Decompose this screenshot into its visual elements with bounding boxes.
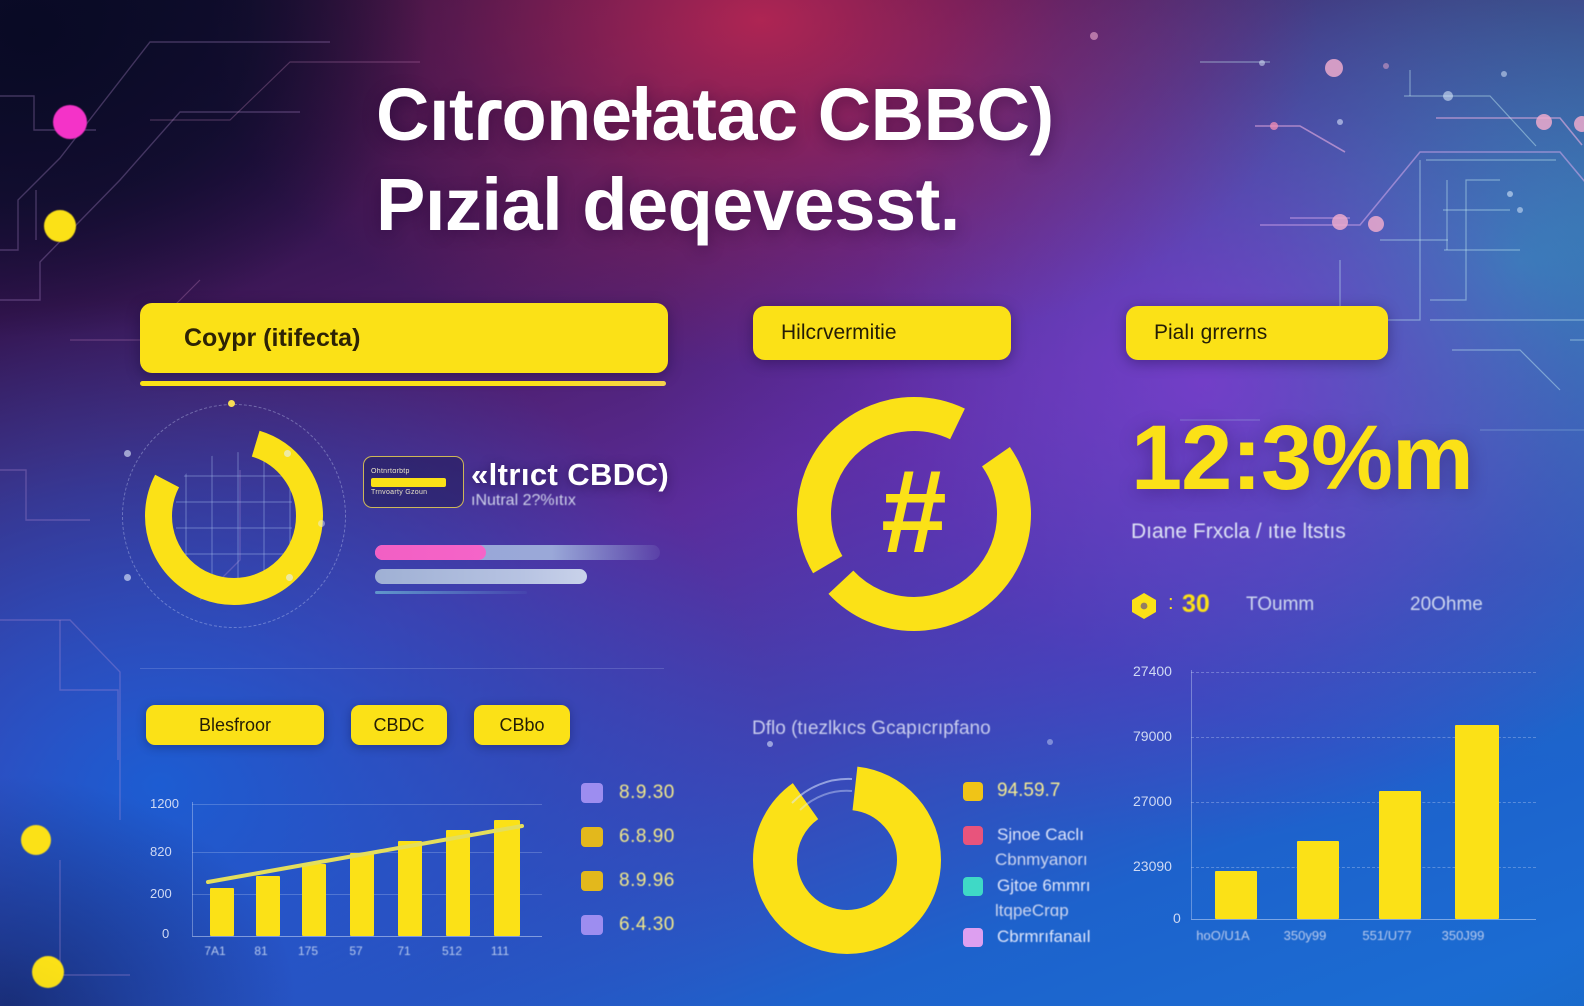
kpi-big-number: 12:3%m (1131, 412, 1473, 504)
bar (1297, 841, 1339, 919)
legend-label: 8.9.30 (619, 782, 675, 804)
x-axis-line (192, 936, 542, 937)
donut-arc (142, 424, 326, 608)
kpi-stat-value: 30 (1182, 590, 1210, 619)
legend-label: Sjnoe Caclı (997, 825, 1084, 845)
legend-item[interactable]: 8.9.30 (581, 782, 675, 804)
legend-item[interactable]: 6.4.30 (581, 914, 675, 936)
legend-item[interactable]: Gjtoe 6mmrı (963, 876, 1091, 896)
legend-swatch (581, 827, 603, 847)
left-donut-chart (142, 424, 326, 608)
legend-swatch (963, 877, 983, 896)
badge-bottom-text: Trnvoarty Gzoun (371, 489, 456, 497)
pill-cbbo[interactable]: CBbo (474, 705, 570, 745)
bottom-left-growth-chart: 1200 820 200 0 7A1 81 175 57 71 512 111 (150, 780, 555, 965)
legend-swatch (581, 915, 603, 935)
tab-active-underline (140, 381, 666, 386)
tab-piali-grrerns[interactable]: Pialı grrerns (1126, 306, 1388, 360)
status-badge-card: Ohtnrtɑrbtp Trnvoarty Gzoun (363, 456, 464, 508)
page-title: Cıtɾoneƚatac CBBC) Pızial deqevesst. (376, 70, 1276, 250)
y-tick-label: 27000 (1133, 793, 1172, 809)
page-title-line-2: Pızial deqevesst. (376, 160, 1276, 250)
legend-swatch (963, 826, 983, 845)
y-tick-label: 27400 (1133, 663, 1172, 679)
progress-bar-secondary-track[interactable] (375, 569, 587, 584)
tab-coypr[interactable]: Coypr (itifecta) (140, 303, 668, 373)
hash-icon: # (854, 452, 974, 572)
legend-item[interactable]: Cbrmrıfanaıl (963, 927, 1091, 947)
kpi-stat-label-1: TOumm (1246, 594, 1314, 616)
legend-item[interactable]: Sjnoe Caclı (963, 825, 1084, 845)
middle-chart-caption: Dflo (tıezlkıcs Gcapıcrıpfano (752, 718, 991, 740)
hexagon-icon (1131, 592, 1157, 620)
donut-node-dot (284, 450, 291, 457)
legend-label: Gjtoe 6mmrı (997, 876, 1091, 896)
x-tick-label: 81 (240, 944, 282, 958)
donut-node-dot (286, 574, 293, 581)
bar (1455, 725, 1499, 919)
progress-bar-tertiary-track (375, 591, 527, 594)
y-tick-label: 0 (1173, 910, 1181, 926)
donut-node-dot (318, 520, 325, 527)
legend-item[interactable]: 8.9.96 (581, 870, 675, 892)
x-tick-label: 512 (431, 944, 473, 958)
x-tick-label: 71 (383, 944, 425, 958)
legend-swatch (963, 782, 983, 801)
section-divider (140, 668, 664, 669)
donut-node-dot (124, 450, 131, 457)
kpi-stat-separator: : (1168, 592, 1174, 615)
donut-node-dot (228, 400, 235, 407)
middle-donut-chart (752, 765, 942, 955)
donut-arc (752, 765, 942, 955)
legend-swatch (581, 783, 603, 803)
bar (1379, 791, 1421, 919)
y-tick-label: 79000 (1133, 728, 1172, 744)
badge-top-text: Ohtnrtɑrbtp (371, 468, 456, 476)
legend-label: 8.9.96 (619, 870, 675, 892)
progress-bar-primary-fill (375, 545, 486, 560)
x-tick-label: 111 (479, 944, 521, 958)
pill-cbdc[interactable]: CBDC (351, 705, 447, 745)
y-tick-label: 200 (150, 886, 172, 901)
x-tick-label: 350J99 (1425, 928, 1501, 943)
legend-label: 6.4.30 (619, 914, 675, 936)
y-tick-label: 0 (162, 926, 169, 941)
y-tick-label: 1200 (150, 796, 179, 811)
legend-item[interactable]: 94.59.7 (963, 780, 1060, 802)
legend-label: 94.59.7 (997, 780, 1060, 802)
legend-sublabel: Cbnmyanorı (995, 850, 1088, 870)
kpi-subtitle: Dıane Frxcla / ıtıe ltstıs (1131, 520, 1346, 544)
legend-swatch (963, 928, 983, 947)
y-tick-label: 23090 (1133, 858, 1172, 874)
badge-progress-bar (371, 478, 446, 487)
x-tick-label: hoO/U1A (1185, 928, 1261, 943)
left-panel-subheading: ıNutral 2?%ıtıx (471, 492, 576, 510)
trendline (192, 802, 542, 936)
legend-sublabel: ltqpeCrɑp (995, 901, 1069, 921)
x-tick-label: 57 (335, 944, 377, 958)
y-tick-label: 820 (150, 844, 172, 859)
legend-item[interactable]: 6.8.90 (581, 826, 675, 848)
legend-label: 6.8.90 (619, 826, 675, 848)
x-tick-label: 350y99 (1267, 928, 1343, 943)
x-tick-label: 175 (287, 944, 329, 958)
bar (1215, 871, 1257, 919)
donut-node-dot (124, 574, 131, 581)
bottom-right-chart: 27400 79000 27000 23090 0 hoO/U1A 350y99… (1125, 650, 1555, 940)
x-tick-label: 7A1 (194, 944, 236, 958)
x-tick-label: 551/U77 (1349, 928, 1425, 943)
kpi-stat-label-2: 20Ohme (1410, 594, 1483, 616)
legend-swatch (581, 871, 603, 891)
page-title-line-1: Cıtɾoneƚatac CBBC) (376, 70, 1276, 160)
x-axis-line (1191, 919, 1536, 920)
legend-item: Cbnmyanorı (995, 850, 1088, 870)
legend-label: Cbrmrıfanaıl (997, 927, 1091, 947)
tab-hilcrvermitie[interactable]: Hilcɾvermitie (753, 306, 1011, 360)
left-panel-heading: «ltrıct CBDC) (471, 457, 669, 493)
pill-blesfroor[interactable]: Blesfroor (146, 705, 324, 745)
legend-item: ltqpeCrɑp (995, 901, 1069, 921)
